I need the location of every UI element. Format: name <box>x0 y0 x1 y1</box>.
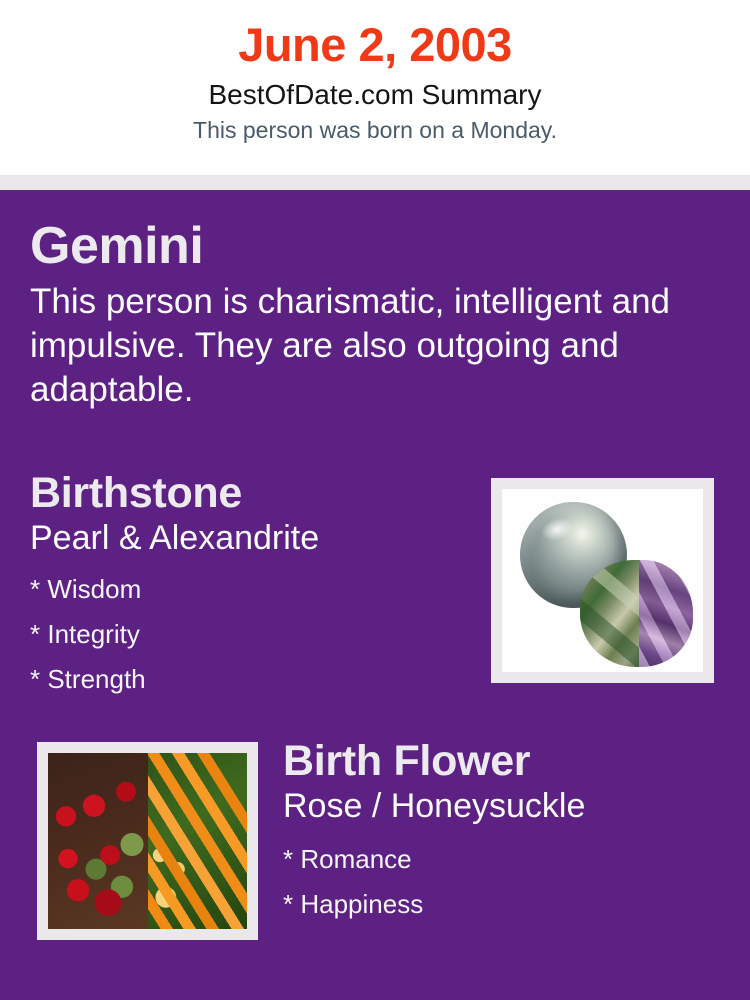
zodiac-description: This person is charismatic, intelligent … <box>30 280 698 412</box>
birthstone-photo-inner <box>502 489 703 672</box>
summary-card: June 2, 2003 BestOfDate.com Summary This… <box>0 0 750 1000</box>
birth-flower-name: Rose / Honeysuckle <box>283 786 743 827</box>
list-item: * Integrity <box>30 612 480 657</box>
birthstone-image <box>491 478 714 683</box>
site-subtitle: BestOfDate.com Summary <box>0 78 750 112</box>
list-item: * Strength <box>30 657 480 702</box>
birth-flower-image <box>37 742 258 940</box>
flower-photo-inner <box>48 753 247 929</box>
rose-photo-half <box>48 753 148 929</box>
honeysuckle-photo-half <box>148 753 248 929</box>
header-divider <box>0 175 750 190</box>
alexandrite-rough-half <box>580 560 639 666</box>
birthstone-name: Pearl & Alexandrite <box>30 518 480 559</box>
zodiac-sign-title: Gemini <box>30 218 710 274</box>
list-item: * Romance <box>283 837 743 882</box>
list-item: * Happiness <box>283 882 743 927</box>
alexandrite-icon <box>580 560 693 666</box>
birthstone-heading: Birthstone <box>30 470 480 516</box>
day-of-week-line: This person was born on a Monday. <box>0 117 750 145</box>
card-body: Gemini This person is charismatic, intel… <box>0 190 750 1000</box>
list-item: * Wisdom <box>30 567 480 612</box>
page-title: June 2, 2003 <box>0 18 750 72</box>
birth-flower-trait-list: * Romance * Happiness <box>283 837 743 926</box>
card-header: June 2, 2003 BestOfDate.com Summary This… <box>0 0 750 175</box>
alexandrite-cut-half <box>639 560 693 666</box>
birth-flower-heading: Birth Flower <box>283 738 743 784</box>
birth-flower-section: Birth Flower Rose / Honeysuckle * Romanc… <box>283 738 743 927</box>
zodiac-section: Gemini This person is charismatic, intel… <box>30 218 710 412</box>
birthstone-section: Birthstone Pearl & Alexandrite * Wisdom … <box>30 470 480 701</box>
birthstone-trait-list: * Wisdom * Integrity * Strength <box>30 567 480 701</box>
